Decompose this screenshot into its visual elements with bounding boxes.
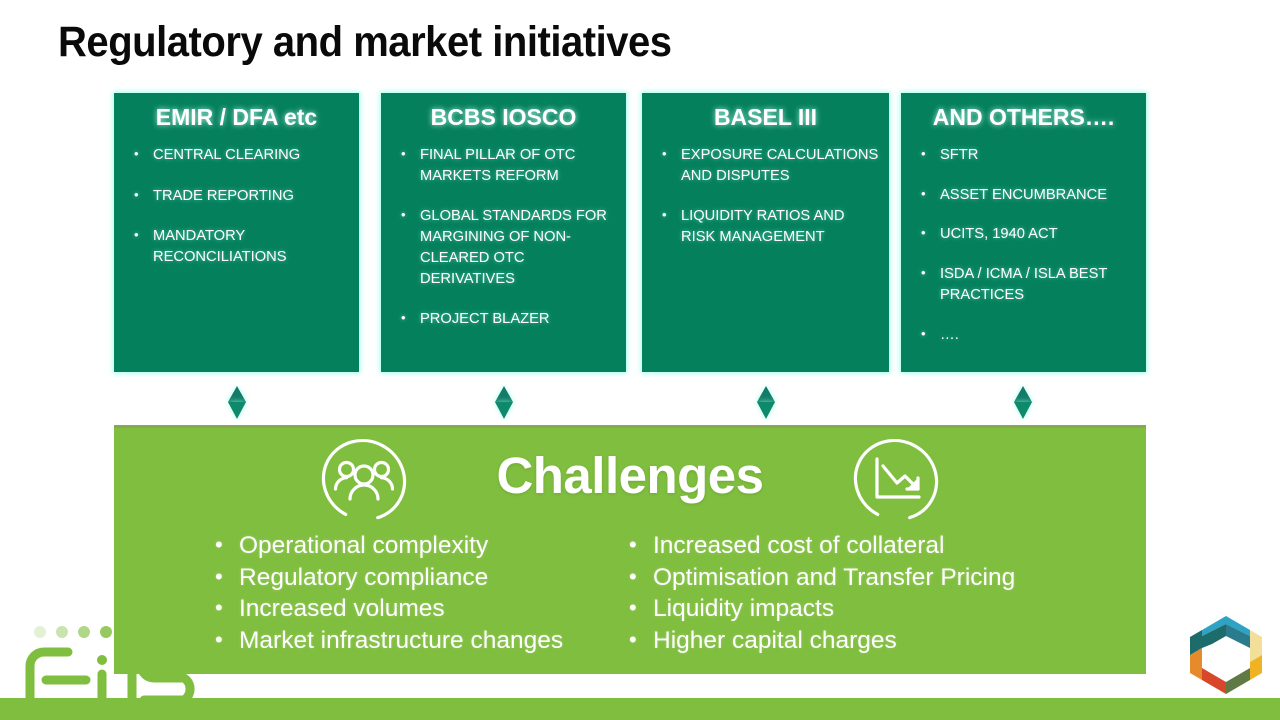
dot-icon	[78, 626, 90, 638]
list-item: LIQUIDITY RATIOS AND RISK MANAGEMENT	[660, 206, 879, 247]
list-item: Optimisation and Transfer Pricing	[628, 562, 1146, 594]
fis-logo-dots	[34, 626, 134, 638]
challenges-left-list: Operational complexity Regulatory compli…	[214, 530, 576, 656]
bottom-accent-bar	[0, 698, 1280, 720]
pillar-title: AND OTHERS….	[901, 104, 1146, 131]
fis-logo	[24, 614, 214, 702]
pillar-card-basel-iii: BASEL III EXPOSURE CALCULATIONS AND DISP…	[642, 93, 889, 372]
dot-icon	[100, 626, 112, 638]
connector-diamond-icon-2	[495, 386, 513, 419]
challenges-right-column: Increased cost of collateral Optimisatio…	[576, 530, 1146, 656]
list-item: CENTRAL CLEARING	[132, 145, 349, 166]
dot-icon	[122, 626, 134, 638]
list-item: Market infrastructure changes	[214, 625, 576, 657]
declining-chart-icon	[853, 437, 939, 523]
list-item: PROJECT BLAZER	[399, 309, 616, 330]
pillar-card-emir-dfa: EMIR / DFA etc CENTRAL CLEARING TRADE RE…	[114, 93, 359, 372]
page-title: Regulatory and market initiatives	[58, 18, 672, 67]
list-item: Higher capital charges	[628, 625, 1146, 657]
list-item: ASSET ENCUMBRANCE	[919, 185, 1136, 206]
list-item: Regulatory compliance	[214, 562, 576, 594]
pillar-title: BCBS IOSCO	[381, 104, 626, 131]
list-item: Liquidity impacts	[628, 593, 1146, 625]
list-item: ISDA / ICMA / ISLA BEST PRACTICES	[919, 264, 1136, 305]
dot-icon	[56, 626, 68, 638]
list-item: UCITS, 1940 ACT	[919, 224, 1136, 245]
connector-diamond-icon-3	[757, 386, 775, 419]
pillar-bullet-list: CENTRAL CLEARING TRADE REPORTING MANDATO…	[114, 145, 359, 268]
list-item: SFTR	[919, 145, 1136, 166]
challenges-header: Challenges	[114, 428, 1146, 528]
hexagon-ring-icon	[1184, 612, 1268, 698]
challenges-title: Challenges	[114, 446, 1146, 505]
pillar-card-bcbs-iosco: BCBS IOSCO FINAL PILLAR OF OTC MARKETS R…	[381, 93, 626, 372]
list-item: Increased cost of collateral	[628, 530, 1146, 562]
list-item: EXPOSURE CALCULATIONS AND DISPUTES	[660, 145, 879, 186]
list-item: GLOBAL STANDARDS FOR MARGINING OF NON-CL…	[399, 206, 616, 289]
list-item: FINAL PILLAR OF OTC MARKETS REFORM	[399, 145, 616, 186]
dot-icon	[34, 626, 46, 638]
list-item: MANDATORY RECONCILIATIONS	[132, 226, 349, 267]
list-item: Increased volumes	[214, 593, 576, 625]
challenges-banner: Challenges Operational complexity Regula…	[114, 425, 1146, 674]
challenges-right-list: Increased cost of collateral Optimisatio…	[628, 530, 1146, 656]
hexagon-logo	[1184, 612, 1268, 698]
pillar-bullet-list: SFTR ASSET ENCUMBRANCE UCITS, 1940 ACT I…	[901, 145, 1146, 345]
pillar-title: BASEL III	[642, 104, 889, 131]
pillar-title: EMIR / DFA etc	[114, 104, 359, 131]
list-item: TRADE REPORTING	[132, 186, 349, 207]
connector-diamond-icon-4	[1014, 386, 1032, 419]
list-item: Operational complexity	[214, 530, 576, 562]
challenges-columns: Operational complexity Regulatory compli…	[114, 530, 1146, 656]
pillar-card-and-others: AND OTHERS…. SFTR ASSET ENCUMBRANCE UCIT…	[901, 93, 1146, 372]
connector-diamond-icon-1	[228, 386, 246, 419]
pillar-bullet-list: FINAL PILLAR OF OTC MARKETS REFORM GLOBA…	[381, 145, 626, 330]
initiatives-group: EMIR / DFA etc CENTRAL CLEARING TRADE RE…	[114, 93, 1146, 372]
list-item: ….	[919, 325, 1136, 346]
pillar-bullet-list: EXPOSURE CALCULATIONS AND DISPUTES LIQUI…	[642, 145, 889, 248]
fis-wordmark-icon	[24, 640, 214, 702]
